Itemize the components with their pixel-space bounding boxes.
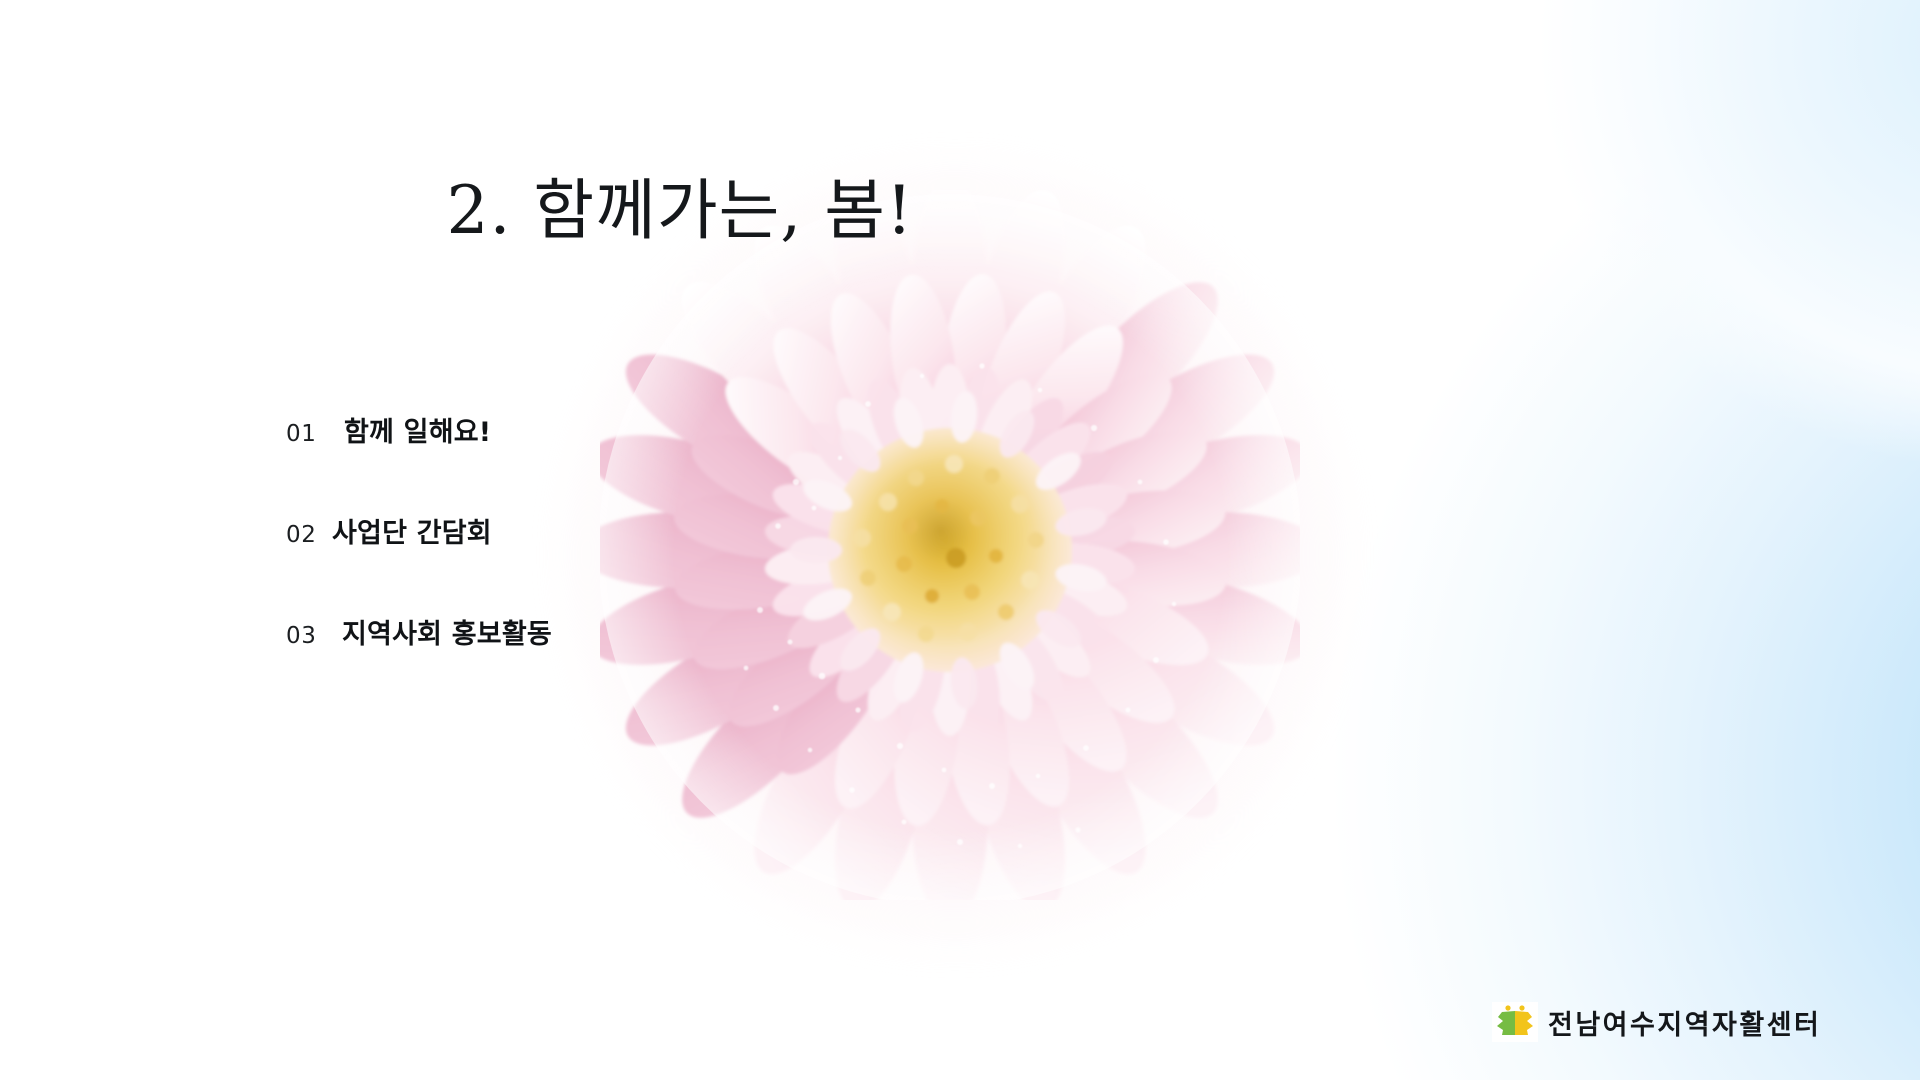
organization-logo: 전남여수지역자활센터 [1492, 1002, 1821, 1042]
page-title: 2. 함께가는, 봄! [300, 174, 1060, 248]
jahwal-center-mascot-icon [1492, 1002, 1538, 1042]
agenda-item-01[interactable]: 01 함께 일해요! [286, 410, 806, 449]
agenda-list: 01 함께 일해요! 02 사업단 간담회 03 지역사회 홍보활동 [286, 410, 806, 651]
agenda-item-number: 01 [286, 421, 330, 447]
agenda-item-label: 함께 일해요! [344, 410, 491, 449]
agenda-item-02[interactable]: 02 사업단 간담회 [286, 511, 806, 550]
organization-name: 전남여수지역자활센터 [1548, 1003, 1821, 1042]
agenda-item-label: 지역사회 홍보활동 [342, 612, 552, 651]
agenda-item-label: 사업단 간담회 [332, 511, 492, 550]
slide-canvas: 2. 함께가는, 봄! 01 함께 일해요! 02 사업단 간담회 03 지역사… [0, 0, 1920, 1080]
agenda-item-number: 02 [286, 522, 330, 548]
agenda-item-number: 03 [286, 623, 330, 649]
agenda-item-03[interactable]: 03 지역사회 홍보활동 [286, 612, 806, 651]
